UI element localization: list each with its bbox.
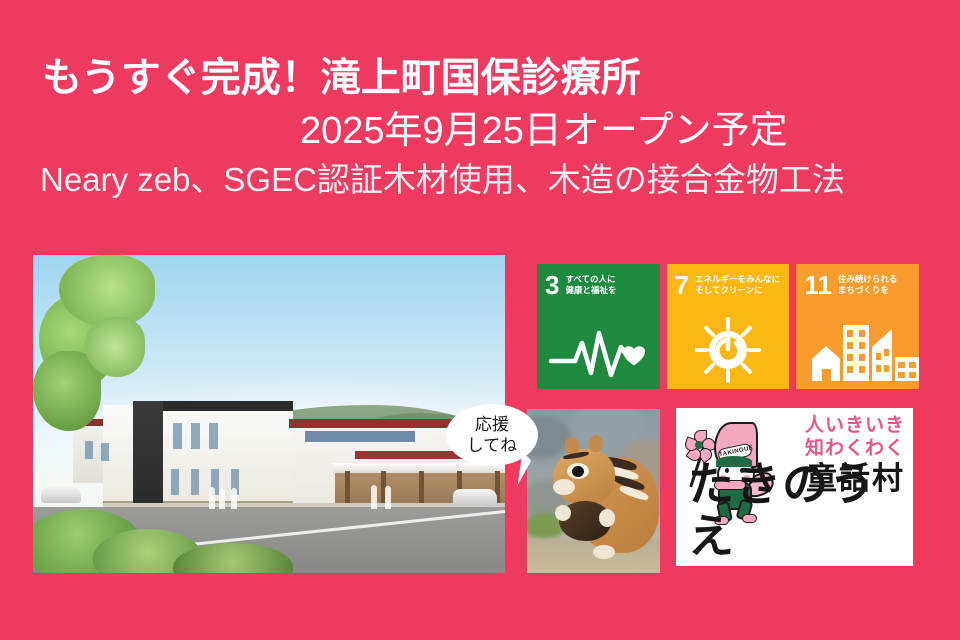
sdg-goal-3-number: 3 <box>545 273 559 297</box>
opening-date-line: 2025年9月25日オープン予定 <box>0 104 960 158</box>
sdg-goal-11[interactable]: 11 住み続けられる まちづくりを <box>796 264 919 389</box>
speech-bubble-line-1: 応援 <box>475 414 509 435</box>
logo-town-name: たきのうえ <box>688 458 913 562</box>
sdg-goal-7[interactable]: 7 エネルギーをみんなに そしてクリーンに <box>667 264 790 389</box>
building-main-parapet <box>161 401 293 411</box>
sdg-goal-11-header: 11 住み続けられる まちづくりを <box>796 264 919 297</box>
chipmunk-eye <box>572 466 584 477</box>
figure-silhouette <box>231 488 237 509</box>
building-mid-red-roof <box>289 419 459 428</box>
building-dark-pylon <box>133 401 163 505</box>
construction-spec-line: Neary zeb、SGEC認証木材使用、木造の接合金物工法 <box>0 158 960 202</box>
sdg-goal-7-label: エネルギーをみんなに そしてクリーンに <box>695 273 780 296</box>
sdg-goal-11-label: 住み続けられる まちづくりを <box>838 273 898 296</box>
sdg-goal-3-label: すべての人に 健康と福祉を <box>565 273 616 296</box>
sdg-goal-3-header: 3 すべての人に 健康と福祉を <box>537 264 660 297</box>
sdg-goal-11-number: 11 <box>804 273 832 297</box>
chipmunk-muzzle <box>553 479 575 495</box>
figure-silhouette <box>385 486 391 509</box>
city-buildings-icon <box>796 313 919 385</box>
sdg-goal-3[interactable]: 3 すべての人に 健康と福祉を <box>537 264 660 389</box>
flower-center <box>695 441 703 449</box>
building-ribbon-window <box>305 431 415 442</box>
logo-catchphrase: 人いきいき 知わくわく <box>805 414 905 460</box>
window <box>171 469 179 495</box>
chipmunk-holding-nut <box>527 409 660 573</box>
parked-car <box>453 489 497 506</box>
window <box>191 423 200 449</box>
window <box>191 469 199 495</box>
headline-block: もうすぐ完成！滝上町国保診療所 2025年9月25日オープン予定 Neary z… <box>0 52 960 202</box>
chipmunk-foot <box>593 545 615 559</box>
takinoue-town-logo: TAKINOUE 人いきいき 知わくわく 童話村 たきのうえ <box>676 408 913 566</box>
speech-bubble-line-2: してね <box>467 435 518 456</box>
speech-bubble: 応援 してね <box>446 404 538 466</box>
foreground-tree <box>59 255 155 327</box>
chipmunk-paw <box>555 505 571 521</box>
heartbeat-heart-icon <box>537 313 660 385</box>
figure-silhouette <box>219 489 225 509</box>
figure-silhouette <box>209 487 215 509</box>
sdg-goal-7-number: 7 <box>675 273 689 297</box>
figure-silhouette <box>371 485 377 509</box>
page-title: もうすぐ完成！滝上町国保診療所 <box>0 52 960 104</box>
sdg-goal-row: 3 すべての人に 健康と福祉を 7 エネルギーをみんなに そしてクリーンに <box>537 264 919 389</box>
clinic-exterior-rendering <box>33 255 505 573</box>
foreground-tree <box>85 317 145 377</box>
chipmunk-ear <box>588 434 604 452</box>
window <box>209 423 218 449</box>
window <box>101 443 109 461</box>
cherry-blossom-icon <box>686 432 712 458</box>
chipmunk-paw <box>599 509 615 527</box>
poster-canvas: もうすぐ完成！滝上町国保診療所 2025年9月25日オープン予定 Neary z… <box>0 0 960 640</box>
sdg-goal-7-header: 7 エネルギーをみんなに そしてクリーンに <box>667 264 790 297</box>
window <box>85 441 93 459</box>
window <box>173 423 182 449</box>
parked-car <box>41 487 81 503</box>
sun-power-icon <box>667 313 790 385</box>
